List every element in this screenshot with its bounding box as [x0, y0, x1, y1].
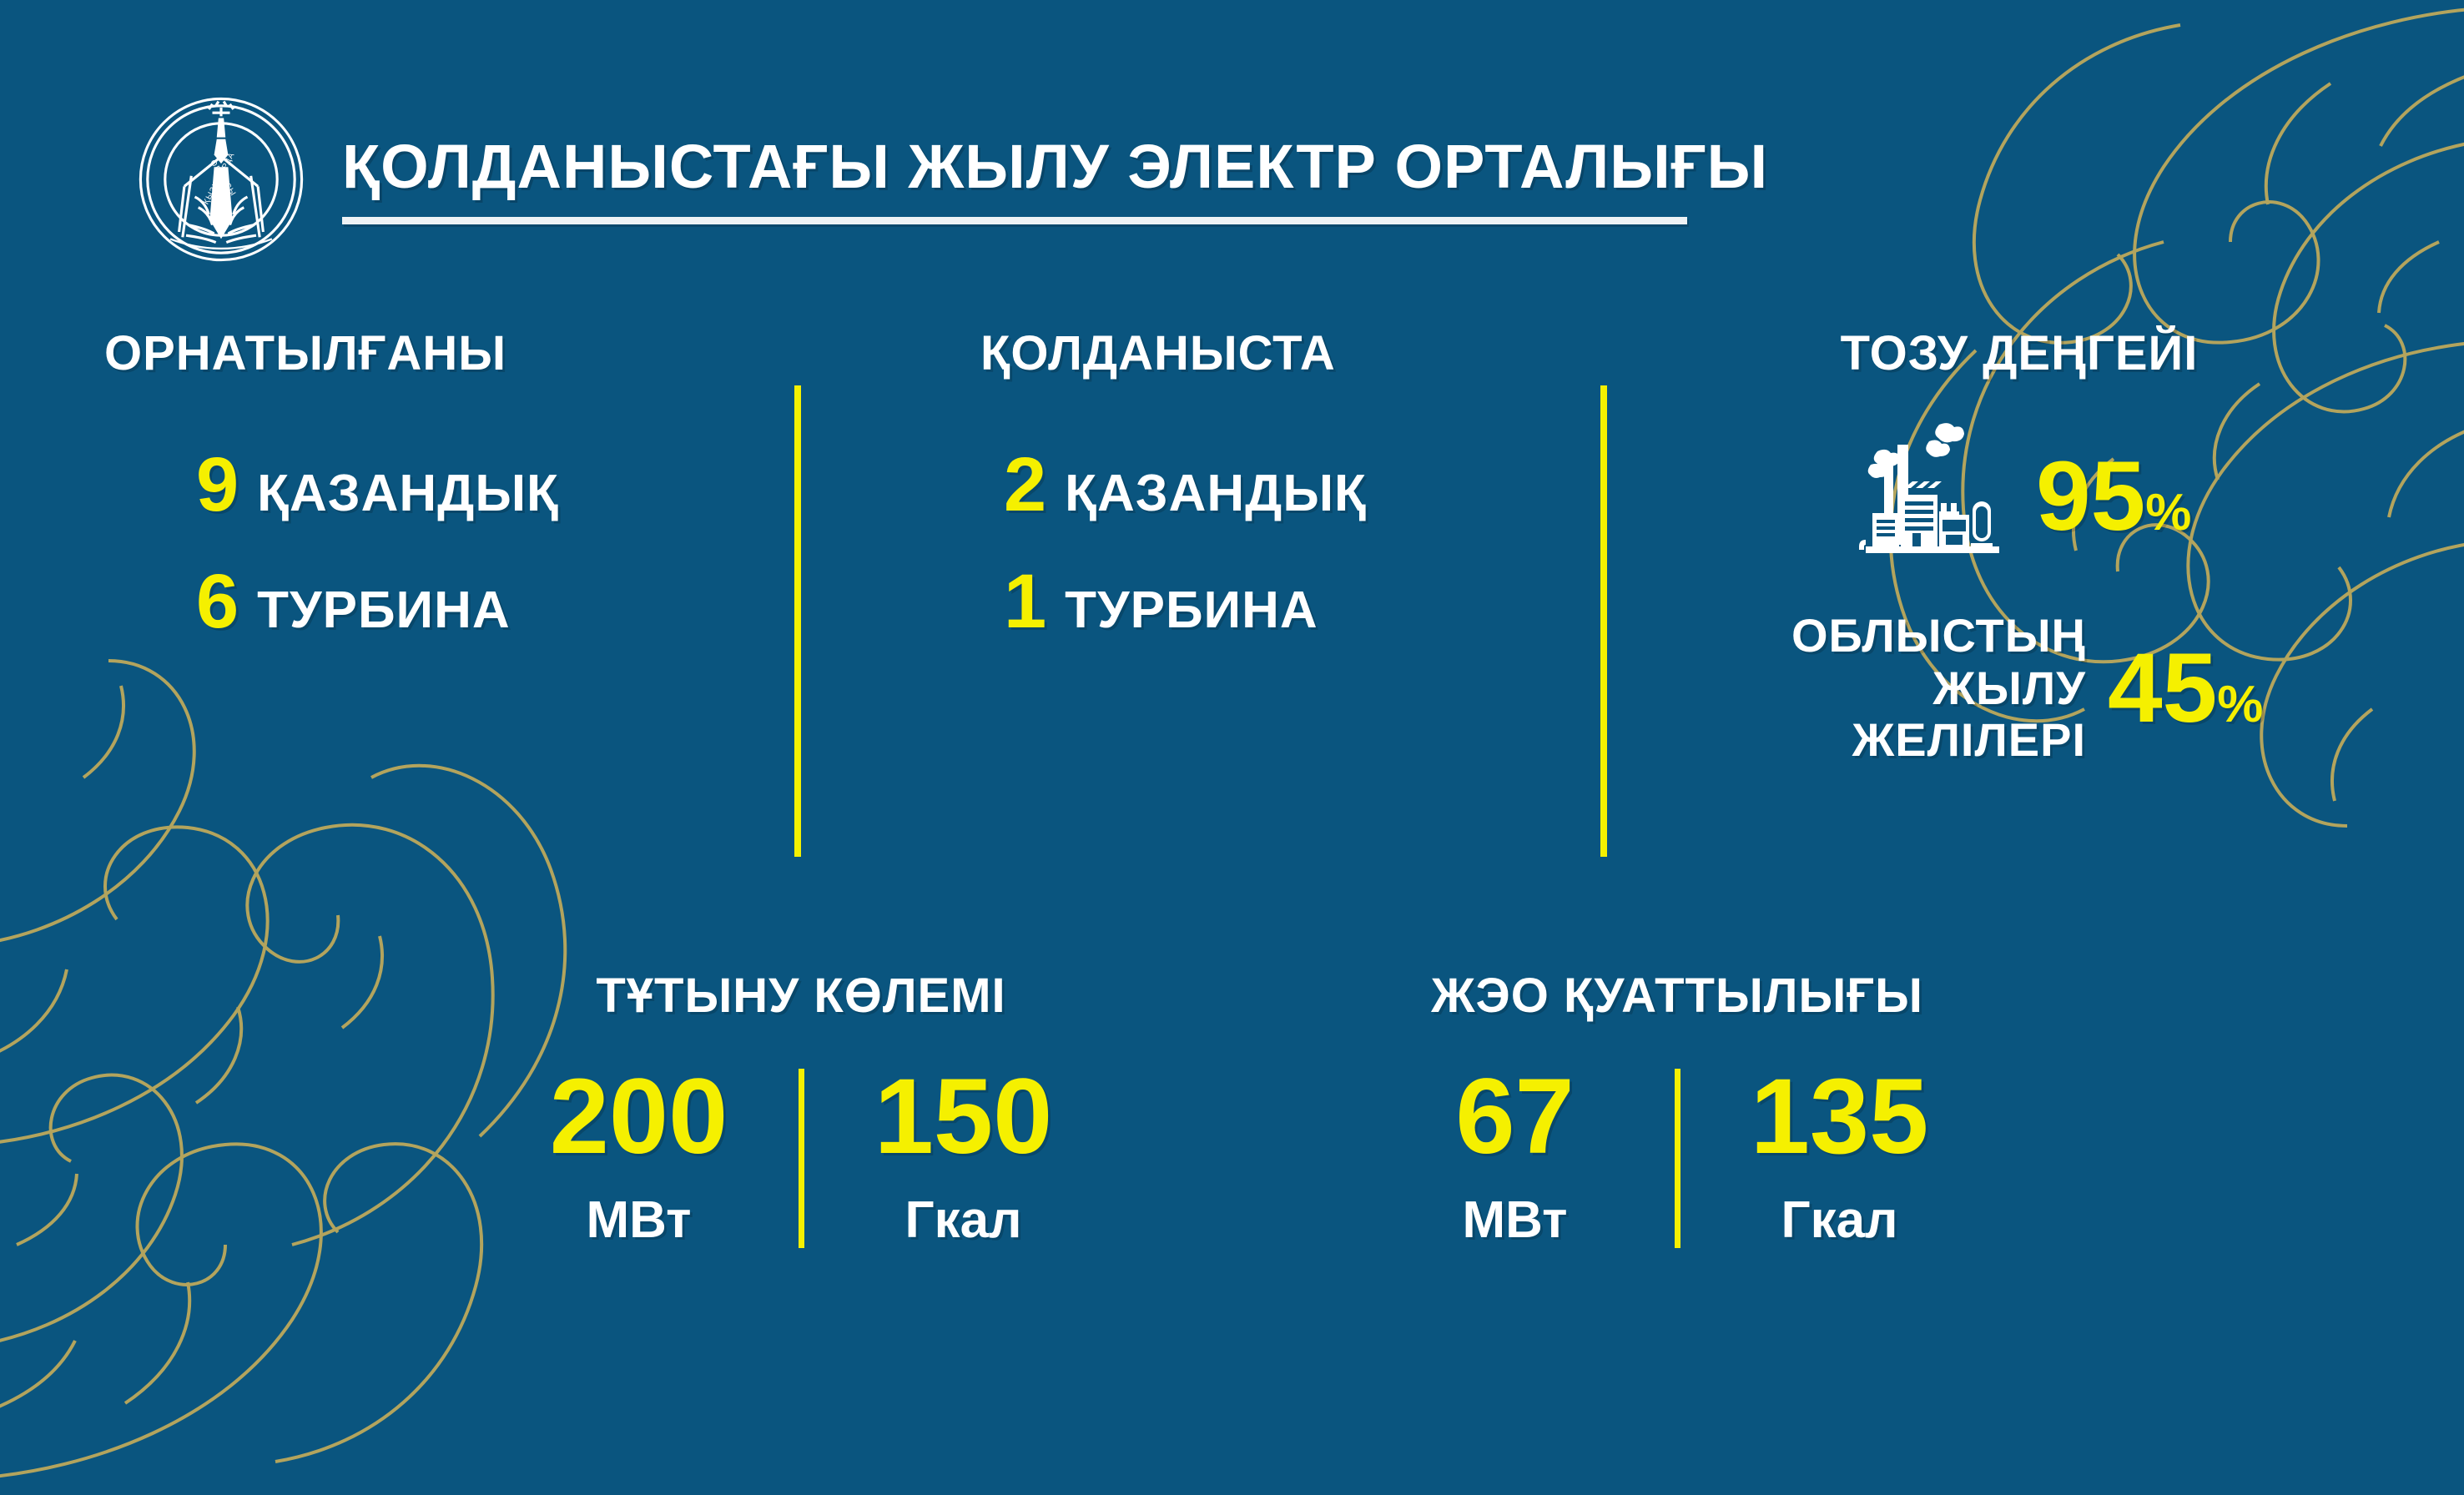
wear-plant-row: 95%: [1702, 421, 2436, 571]
value: 67: [1455, 1064, 1574, 1170]
column-installed-heading: ОРНАТЫЛҒАНЫ: [104, 325, 763, 381]
column-installed: ОРНАТЫЛҒАНЫ 9 ҚАЗАНДЫҚ 6 ТУРБИНА: [104, 325, 763, 640]
metric-label: ҚАЗАНДЫҚ: [257, 464, 559, 523]
metric-value: 2: [1004, 446, 1046, 523]
unit: Гкал: [1781, 1190, 1897, 1250]
wear-network-label-line3: ЖЕЛІЛЕРІ: [1702, 714, 2086, 767]
consumption-gcal: 150 Гкал: [843, 1064, 1085, 1250]
column-wear-level: ТОЗУ ДЕҢГЕЙІ: [1702, 325, 2436, 767]
value: 135: [1751, 1064, 1929, 1170]
metric-value: 9: [196, 446, 239, 523]
metric-label: ТУРБИНА: [257, 581, 510, 640]
capacity-mw: 67 МВт: [1394, 1064, 1636, 1250]
wear-network-label: ОБЛЫСТЫҢ ЖЫЛУ ЖЕЛІЛЕРІ: [1702, 610, 2086, 767]
consumption-mw: 200 МВт: [518, 1064, 760, 1250]
wear-network-percent-value: 45: [2108, 633, 2217, 743]
unit: МВт: [587, 1190, 692, 1250]
wear-plant-percent-value: 95: [2036, 441, 2145, 551]
wear-network-label-line1: ОБЛЫСТЫҢ: [1702, 610, 2086, 662]
metric-label: ТУРБИНА: [1065, 581, 1318, 640]
metric-installed-turbines: 6 ТУРБИНА: [196, 563, 763, 640]
metric-inuse-turbines: 1 ТУРБИНА: [1004, 563, 1615, 640]
unit: МВт: [1463, 1190, 1568, 1250]
group-plant-capacity-values: 67 МВт 135 Гкал: [1302, 1064, 2053, 1250]
wear-plant-percent: 95%: [2036, 447, 2191, 546]
power-plant-icon: [1852, 421, 2011, 571]
page-title: ҚОЛДАНЫСТАҒЫ ЖЫЛУ ЭЛЕКТР ОРТАЛЫҒЫ: [342, 134, 1768, 199]
page-header: ҚЫЗЫЛОРДА ОБЛЫСЫ ҚОЛДАНЫСТАҒЫ ЖЫЛУ ЭЛЕКТ…: [134, 92, 1768, 267]
pair-divider: [799, 1069, 804, 1248]
group-plant-capacity-heading: ЖЭО ҚУАТТЫЛЫҒЫ: [1302, 968, 2053, 1024]
stats-row: ОРНАТЫЛҒАНЫ 9 ҚАЗАНДЫҚ 6 ТУРБИНА ҚОЛДАНЫ…: [0, 325, 2464, 909]
metric-value: 6: [196, 563, 239, 640]
title-underline: [342, 217, 1687, 224]
group-consumption-heading: ТҰТЫНУ КӨЛЕМІ: [455, 968, 1147, 1024]
group-consumption: ТҰТЫНУ КӨЛЕМІ 200 МВт 150 Гкал: [455, 968, 1147, 1250]
metric-value: 1: [1004, 563, 1046, 640]
wear-network-row: ОБЛЫСТЫҢ ЖЫЛУ ЖЕЛІЛЕРІ 45%: [1702, 610, 2436, 767]
pair-divider: [1675, 1069, 1680, 1248]
group-plant-capacity: ЖЭО ҚУАТТЫЛЫҒЫ 67 МВт 135 Гкал: [1302, 968, 2053, 1250]
column-in-use: ҚОЛДАНЫСТА 2 ҚАЗАНДЫҚ 1 ТУРБИНА: [980, 325, 1615, 640]
percent-sign: %: [2145, 484, 2191, 541]
metric-installed-boilers: 9 ҚАЗАНДЫҚ: [196, 446, 763, 523]
metric-label: ҚАЗАНДЫҚ: [1065, 464, 1367, 523]
value: 150: [874, 1064, 1053, 1170]
group-consumption-values: 200 МВт 150 Гкал: [455, 1064, 1147, 1250]
wear-network-percent: 45%: [2108, 639, 2263, 737]
unit: Гкал: [904, 1190, 1021, 1250]
column-wear-heading: ТОЗУ ДЕҢГЕЙІ: [1702, 325, 2336, 381]
metric-inuse-boilers: 2 ҚАЗАНДЫҚ: [1004, 446, 1615, 523]
capacity-gcal: 135 Гкал: [1719, 1064, 1961, 1250]
vertical-divider-1: [794, 385, 801, 857]
wear-network-label-line2: ЖЫЛУ: [1702, 662, 2086, 715]
kyzylorda-region-emblem-icon: ҚЫЗЫЛОРДА ОБЛЫСЫ: [134, 92, 309, 267]
column-in-use-heading: ҚОЛДАНЫСТА: [980, 325, 1615, 381]
value: 200: [550, 1064, 728, 1170]
percent-sign: %: [2217, 676, 2263, 733]
